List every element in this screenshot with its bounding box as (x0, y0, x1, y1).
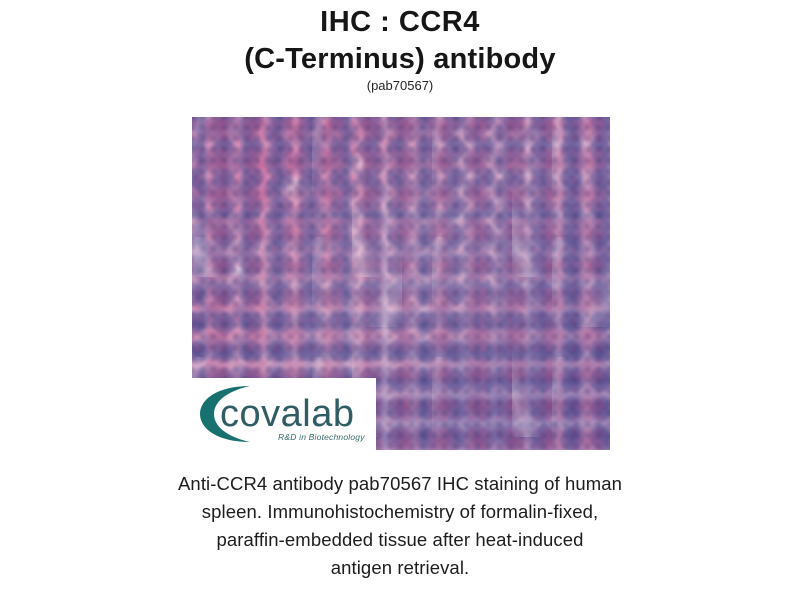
page-title: IHC : CCR4 (C-Terminus) antibody (pab705… (0, 4, 800, 94)
logo-wordmark-text: covalab (220, 393, 354, 435)
figure-caption: Anti-CCR4 antibody pab70567 IHC staining… (100, 470, 700, 582)
title-line-secondary: (C-Terminus) antibody (0, 40, 800, 78)
logo-tagline-text: R&D in Biotechnology (278, 432, 365, 442)
caption-line-3: paraffin-embedded tissue after heat-indu… (100, 526, 700, 554)
caption-line-4: antigen retrieval. (100, 554, 700, 582)
caption-line-2: spleen. Immunohistochemistry of formalin… (100, 498, 700, 526)
covalab-logo: covalab R&D in Biotechnology (192, 378, 376, 450)
catalog-code: (pab70567) (0, 77, 800, 94)
micrograph-figure: covalab R&D in Biotechnology (192, 117, 610, 450)
caption-line-1: Anti-CCR4 antibody pab70567 IHC staining… (100, 470, 700, 498)
covalab-logo-box: covalab R&D in Biotechnology (192, 378, 376, 450)
title-line-primary: IHC : CCR4 (0, 4, 800, 40)
covalab-logo-graphic: covalab R&D in Biotechnology (192, 378, 376, 450)
